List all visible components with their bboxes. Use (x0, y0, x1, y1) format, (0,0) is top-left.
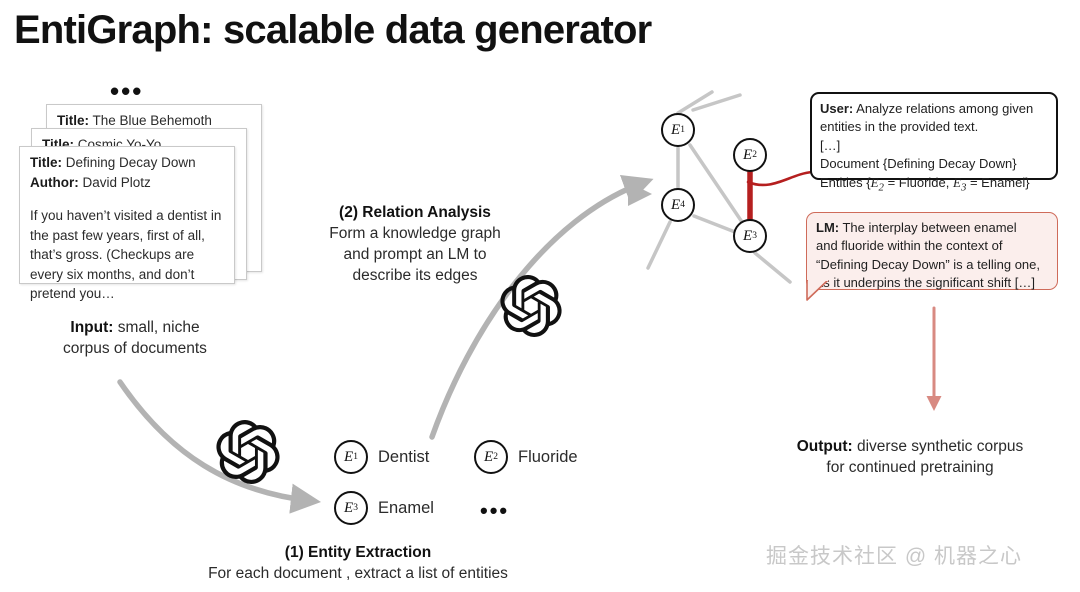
graph-node-e2[interactable]: E2 (733, 138, 767, 172)
document-title-label: Title: (30, 155, 62, 170)
step2-caption: (2) Relation Analysis Form a knowledge g… (300, 203, 530, 287)
user-entities-suffix: = Enamel} (966, 175, 1029, 190)
document-title-label: Title: (57, 113, 89, 128)
lm-line-3: “Defining Decay Down” is a telling one, (816, 256, 1048, 274)
step1-caption: (1) Entity Extraction For each document … (178, 543, 538, 585)
lm-response-box[interactable]: LM: The interplay between enamel and flu… (806, 212, 1058, 290)
graph-node-symbol: E (743, 228, 752, 245)
graph-node-e3[interactable]: E3 (733, 219, 767, 253)
entity-symbol: E (344, 449, 353, 466)
output-caption-head: Output: (797, 438, 853, 455)
document-title-value: Defining Decay Down (62, 155, 196, 170)
entity-symbol: E (484, 449, 493, 466)
entity-label: Fluoride (518, 448, 578, 467)
document-title-line: Title: Defining Decay Down (30, 153, 224, 173)
entity-symbol-subscript: 1 (353, 452, 358, 462)
step1-caption-head: (1) Entity Extraction (285, 544, 431, 561)
input-caption: Input: small, niche corpus of documents (20, 318, 250, 360)
entity-symbol-circle: E1 (334, 440, 368, 474)
graph-node-symbol: E (671, 122, 680, 139)
lm-line-4: as it underpins the significant shift […… (816, 274, 1048, 292)
entity-item[interactable]: E2 Fluoride (474, 440, 578, 474)
graph-node-subscript: 4 (680, 200, 685, 210)
user-line-2: entities in the provided text. (820, 118, 1048, 136)
document-author-label: Author: (30, 175, 79, 190)
graph-node-symbol: E (671, 197, 680, 214)
step2-caption-line3: and prompt an LM to (343, 246, 486, 263)
documents-ellipsis: ••• (110, 78, 143, 104)
entity-item[interactable]: E3 Enamel (334, 491, 434, 525)
entities-ellipsis: ••• (480, 500, 509, 522)
user-entities-middle: = Fluoride, (884, 175, 953, 190)
graph-node-e4[interactable]: E4 (661, 188, 695, 222)
watermark: 掘金技术社区 @ 机器之心 (766, 540, 1022, 570)
user-prompt-box[interactable]: User: Analyze relations among given enti… (810, 92, 1058, 180)
lm-line-1: LM: The interplay between enamel (816, 219, 1048, 237)
openai-logo-icon (216, 420, 280, 489)
lm-line-2: and fluoride within the context of (816, 237, 1048, 255)
input-caption-head: Input: (70, 319, 113, 336)
lm-response-box-tail (806, 280, 830, 302)
diagram-canvas: EntiGraph: scalable data generator (0, 0, 1080, 592)
output-caption-line2: for continued pretraining (826, 459, 993, 476)
step1-caption-line2: For each document , extract a list of en… (208, 565, 508, 582)
output-caption-rest: diverse synthetic corpus (853, 438, 1024, 455)
page-title: EntiGraph: scalable data generator (14, 8, 651, 53)
user-entity-e2-symbol: E (871, 175, 879, 190)
graph-node-symbol: E (743, 147, 752, 164)
lm-line-1-text: The interplay between enamel (839, 220, 1017, 235)
graph-node-subscript: 3 (752, 231, 757, 241)
user-line-1-text: Analyze relations among given (853, 101, 1033, 116)
lm-speaker-label: LM: (816, 220, 839, 235)
step2-caption-head: (2) Relation Analysis (339, 204, 491, 221)
user-entity-e3-symbol: E (953, 175, 961, 190)
entity-label: Dentist (378, 448, 429, 467)
graph-node-subscript: 2 (752, 150, 757, 160)
openai-logo-icon (500, 275, 562, 342)
user-speaker-label: User: (820, 101, 853, 116)
input-caption-rest: small, niche (113, 319, 199, 336)
document-body-text: If you haven’t visited a dentist in the … (30, 206, 224, 304)
document-card-active[interactable]: Title: Defining Decay Down Author: David… (19, 146, 235, 284)
entity-symbol-circle: E3 (334, 491, 368, 525)
user-line-4: Document {Defining Decay Down} (820, 155, 1048, 173)
document-title-value: The Blue Behemoth (89, 113, 212, 128)
user-entities-prefix: Entities { (820, 175, 871, 190)
step2-caption-line4: describe its edges (353, 267, 478, 284)
entity-symbol-circle: E2 (474, 440, 508, 474)
graph-node-e1[interactable]: E1 (661, 113, 695, 147)
edge-to-user-box-connector (748, 172, 812, 185)
entity-symbol-subscript: 3 (353, 503, 358, 513)
entity-item[interactable]: E1 Dentist (334, 440, 429, 474)
step2-caption-line2: Form a knowledge graph (329, 225, 500, 242)
input-caption-line2: corpus of documents (63, 340, 207, 357)
document-author-value: David Plotz (79, 175, 151, 190)
user-line-1: User: Analyze relations among given (820, 100, 1048, 118)
output-caption: Output: diverse synthetic corpus for con… (765, 437, 1055, 479)
document-author-line: Author: David Plotz (30, 173, 224, 193)
entity-symbol-subscript: 2 (493, 452, 498, 462)
graph-node-subscript: 1 (680, 125, 685, 135)
user-line-3: […] (820, 137, 1048, 155)
arrow-graph-inbound (628, 182, 652, 206)
entity-symbol: E (344, 500, 353, 517)
user-line-5: Entities {E2 = Fluoride, E3 = Enamel} (820, 174, 1048, 196)
entity-label: Enamel (378, 499, 434, 518)
